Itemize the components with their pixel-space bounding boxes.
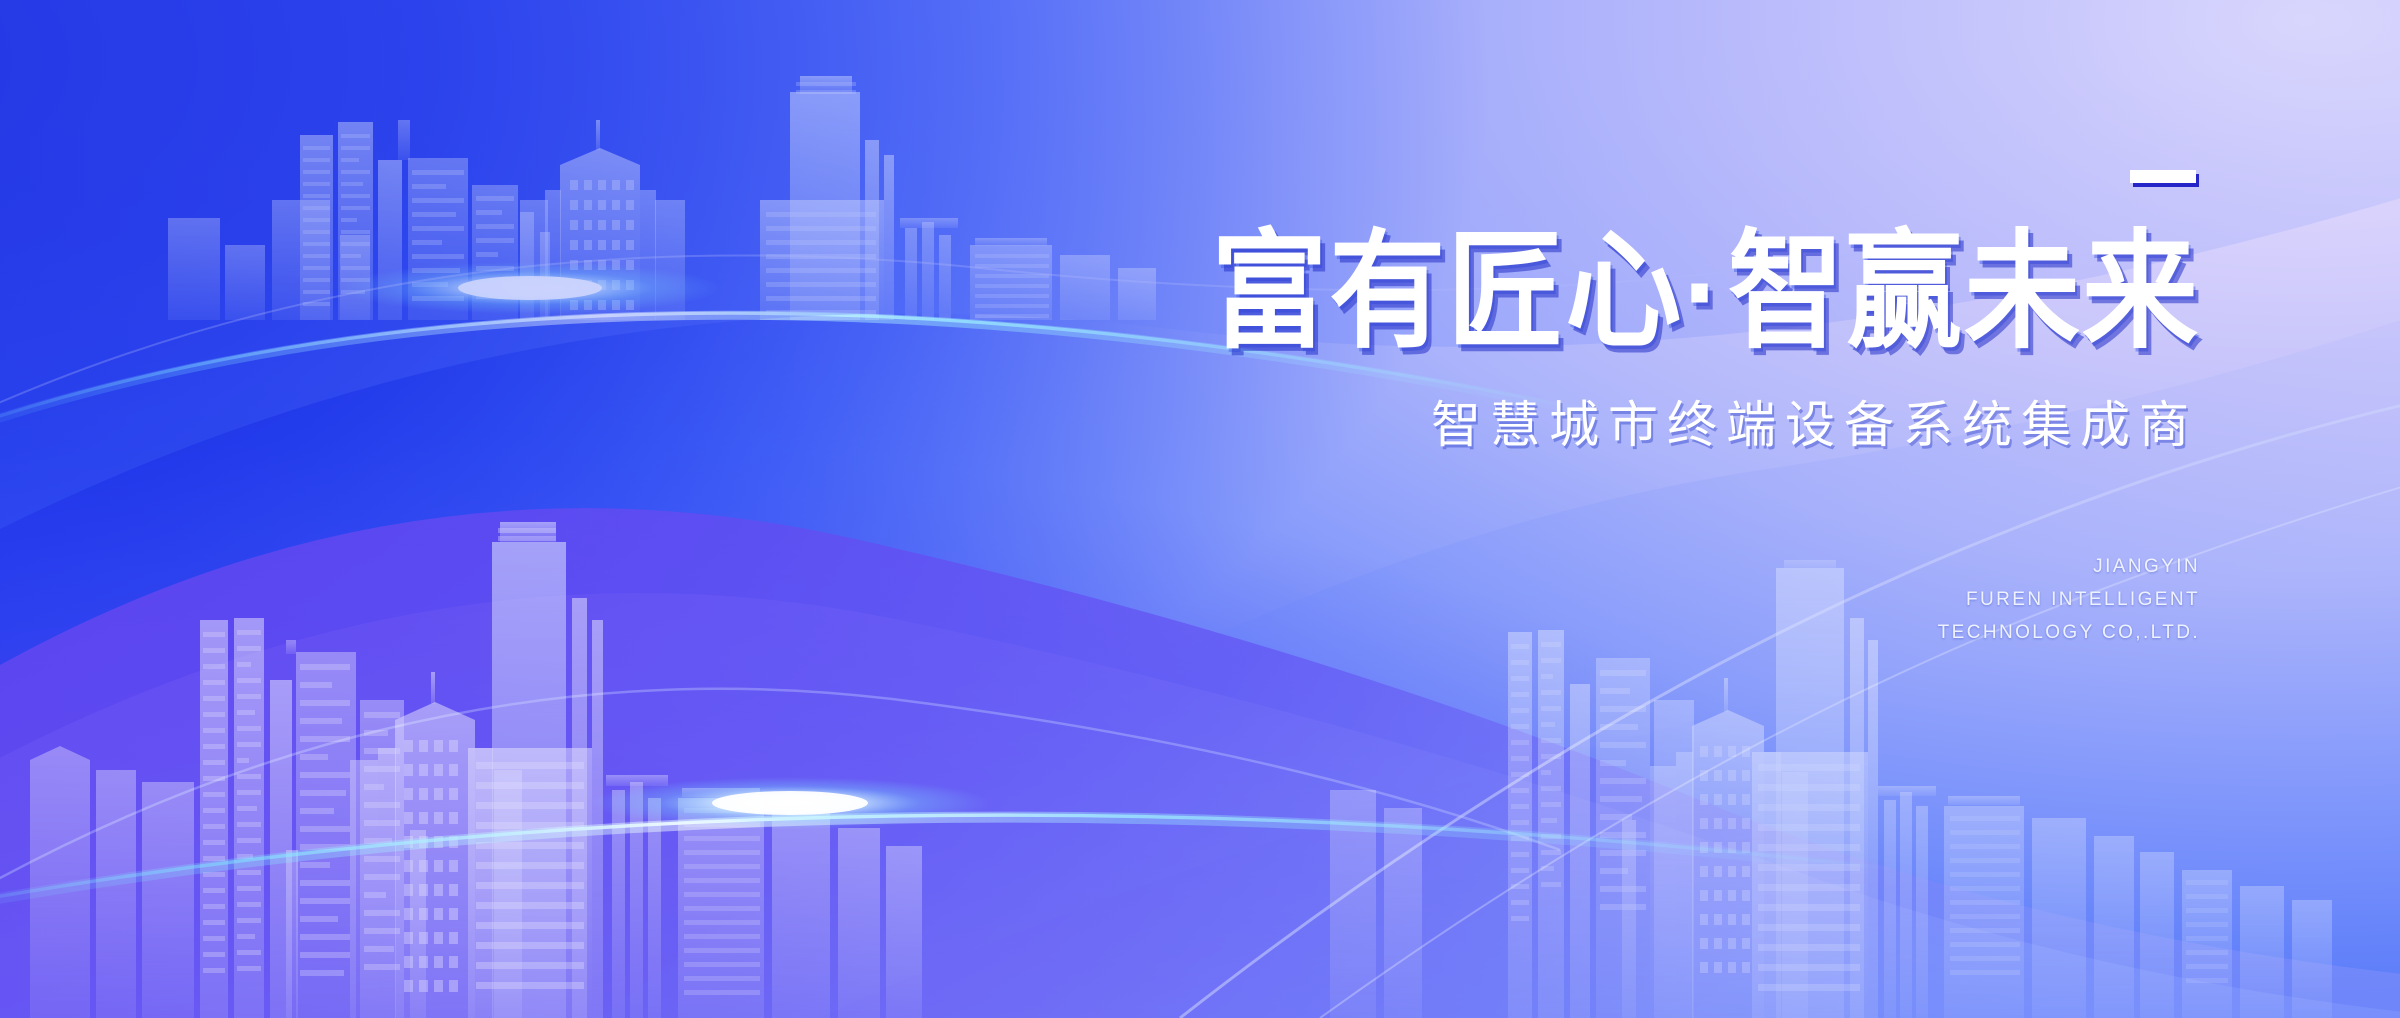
headline-right: 智赢未来	[1728, 220, 2200, 363]
headline-left: 富有匠心	[1211, 220, 1683, 363]
page-title: 富有匠心·智赢未来	[1040, 223, 2200, 361]
company-line-suffix: TECHNOLOGY CO,.LTD.	[1040, 617, 2200, 650]
company-line-name: FUREN INTELLIGENT	[1040, 584, 2200, 617]
dash-mark-icon	[2130, 170, 2196, 183]
company-name-block: JIANGYIN FUREN INTELLIGENT TECHNOLOGY CO…	[1040, 551, 2200, 649]
subtitle: 智慧城市终端设备系统集成商	[1040, 395, 2200, 455]
headline-separator: ·	[1683, 220, 1728, 363]
headline-block: 富有匠心·智赢未来 智慧城市终端设备系统集成商 JIANGYIN FUREN I…	[1040, 170, 2200, 649]
company-line-city: JIANGYIN	[1040, 551, 2200, 584]
banner-canvas: 富有匠心·智赢未来 智慧城市终端设备系统集成商 JIANGYIN FUREN I…	[0, 0, 2400, 1018]
